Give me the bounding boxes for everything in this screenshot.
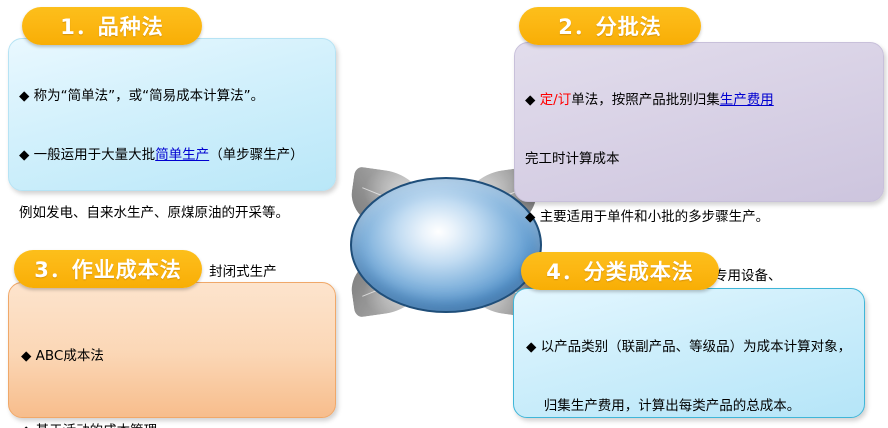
text-segment: （单步骤生产） (209, 147, 304, 163)
text-segment: 单法，按照产品批别归集 (571, 92, 720, 108)
link-production-cost[interactable]: 生产费用 (720, 92, 774, 108)
bullet-line: ◆ 基于活动的成本管理 (21, 419, 325, 428)
quadrant-title-3-label: 3．作业成本法 (34, 254, 182, 284)
bullet-line: 归集生产费用，计算出每类产品的总成本。 (543, 397, 888, 417)
bullet-line: ◆ 定/订单法，按照产品批别归集生产费用 (525, 91, 873, 111)
link-simple-production[interactable]: 简单生产 (155, 147, 209, 163)
text-segment: ◆ (525, 92, 540, 108)
bullet-line: 完工时计算成本 (525, 150, 873, 170)
quadrant-panel-3: ◆ ABC成本法 ◆ 基于活动的成本管理 ◆ 成本对象消耗作业，作业消耗资源 ◆… (8, 282, 336, 418)
quadrant-title-2[interactable]: 2．分批法 (519, 7, 701, 45)
bullet-line: ◆ 主要适用于单件和小批的多步骤生产。 (525, 208, 873, 228)
quadrant-title-4[interactable]: 4．分类成本法 (521, 252, 719, 290)
bullet-line: ◆ 称为“简单法”，或“简易成本计算法”。 (19, 87, 325, 107)
quadrant-panel-4-body: ◆ 以产品类别（联副产品、等级品）为成本计算对象， 归集生产费用，计算出每类产品… (526, 299, 888, 428)
quadrant-panel-3-body: ◆ ABC成本法 ◆ 基于活动的成本管理 ◆ 成本对象消耗作业，作业消耗资源 ◆… (21, 294, 325, 428)
quadrant-title-1-label: 1．品种法 (60, 11, 164, 41)
quadrant-panel-2: ◆ 定/订单法，按照产品批别归集生产费用 完工时计算成本 ◆ 主要适用于单件和小… (514, 42, 884, 202)
quadrant-panel-1: ◆ 称为“简单法”，或“简易成本计算法”。 ◆ 一般运用于大量大批简单生产（单步… (8, 38, 336, 191)
quadrant-title-3[interactable]: 3．作业成本法 (14, 250, 202, 288)
leaf-icon-bottom-left (347, 250, 428, 318)
quadrant-title-2-label: 2．分批法 (558, 11, 662, 41)
quadrant-title-1[interactable]: 1．品种法 (22, 7, 202, 45)
bullet-line: 例如发电、自来水生产、原煤原油的开采等。 (19, 204, 325, 224)
bullet-line: ◆ 一般运用于大量大批简单生产（单步骤生产） (19, 146, 325, 166)
center-ellipse-shape (350, 177, 542, 313)
quadrant-panel-4: ◆ 以产品类别（联副产品、等级品）为成本计算对象， 归集生产费用，计算出每类产品… (513, 288, 865, 418)
text-segment: ◆ 一般运用于大量大批 (19, 147, 155, 163)
diagram-canvas: 1．品种法 ◆ 称为“简单法”，或“简易成本计算法”。 ◆ 一般运用于大量大批简… (0, 0, 888, 428)
highlight-text: 定/订 (540, 92, 572, 108)
quadrant-title-4-label: 4．分类成本法 (546, 256, 694, 286)
bullet-line: ◆ ABC成本法 (21, 344, 325, 369)
leaf-icon-top-left (347, 166, 428, 234)
bullet-line: ◆ 以产品类别（联副产品、等级品）为成本计算对象， (543, 338, 888, 358)
